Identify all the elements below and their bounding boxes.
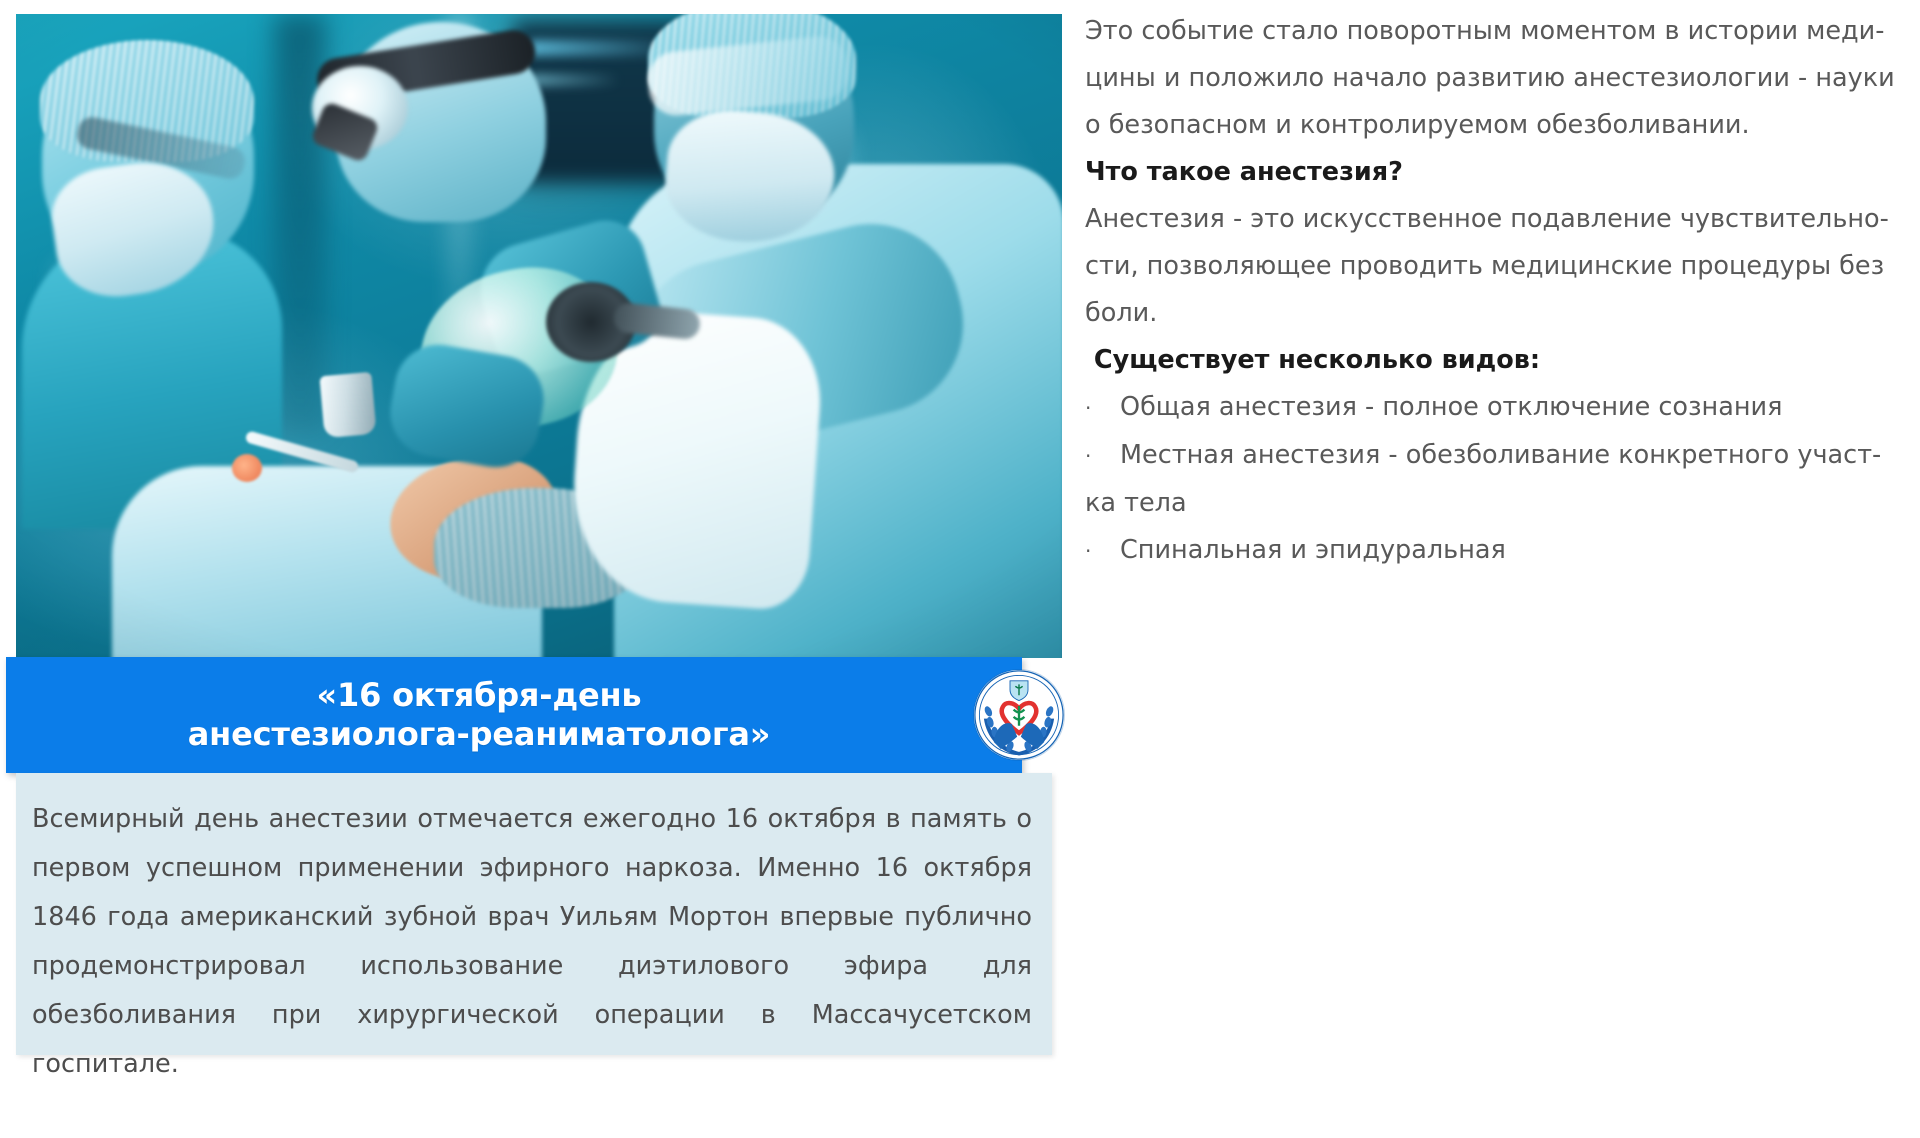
list-item-label: Общая анестезия - полное отключение созн… [1120,384,1782,431]
list-item: · Местная анестезия - обезболивание конк… [1085,432,1897,480]
bullet-dot-icon: · [1085,528,1120,575]
body-line: Это событие стало поворотным моментом в … [1085,8,1897,55]
operating-room-photo [16,14,1062,658]
bullet-dot-icon: · [1085,385,1120,432]
list-item: · Общая анестезия - полное отключение со… [1085,384,1897,432]
section-heading-what-is-anesthesia: Что такое анестезия? [1085,149,1897,196]
ministry-health-emblem [974,670,1064,760]
body-line: боли. [1085,290,1897,337]
slide-root: «16 октября-день анестезиолога-реанимато… [0,0,1920,1080]
left-column: «16 октября-день анестезиолога-реанимато… [0,0,1062,1080]
page-title: «16 октября-день анестезиолога-реанимато… [188,676,840,754]
right-column-text: Это событие стало поворотным моментом в … [1085,8,1897,575]
list-item-label: Спинальная и эпидуральная [1120,527,1506,574]
info-panel-paragraph: Всемирный день анестезии отмечается ежег… [32,795,1032,1138]
info-panel: Всемирный день анестезии отмечается ежег… [16,773,1052,1055]
list-item: · Спинальная и эпидуральная [1085,527,1897,575]
title-banner: «16 октября-день анестезиолога-реанимато… [6,657,1022,773]
list-item-wrap-line: ка тела [1085,480,1897,527]
body-line: сти, позволяющее проводить медицинские п… [1085,243,1897,290]
body-line: о безопасном и контролируемом обезболива… [1085,102,1897,149]
body-line: цины и положило начало развитию анестези… [1085,55,1897,102]
body-line: Анестезия - это искусственное подавление… [1085,196,1897,243]
list-item-label: Местная анестезия - обезболивание конкре… [1120,432,1881,479]
photo-canvas [16,14,1062,658]
section-heading-types: Существует несколько видов: [1085,337,1897,384]
photo-vignette [16,14,1062,658]
bullet-dot-icon: · [1085,433,1120,480]
